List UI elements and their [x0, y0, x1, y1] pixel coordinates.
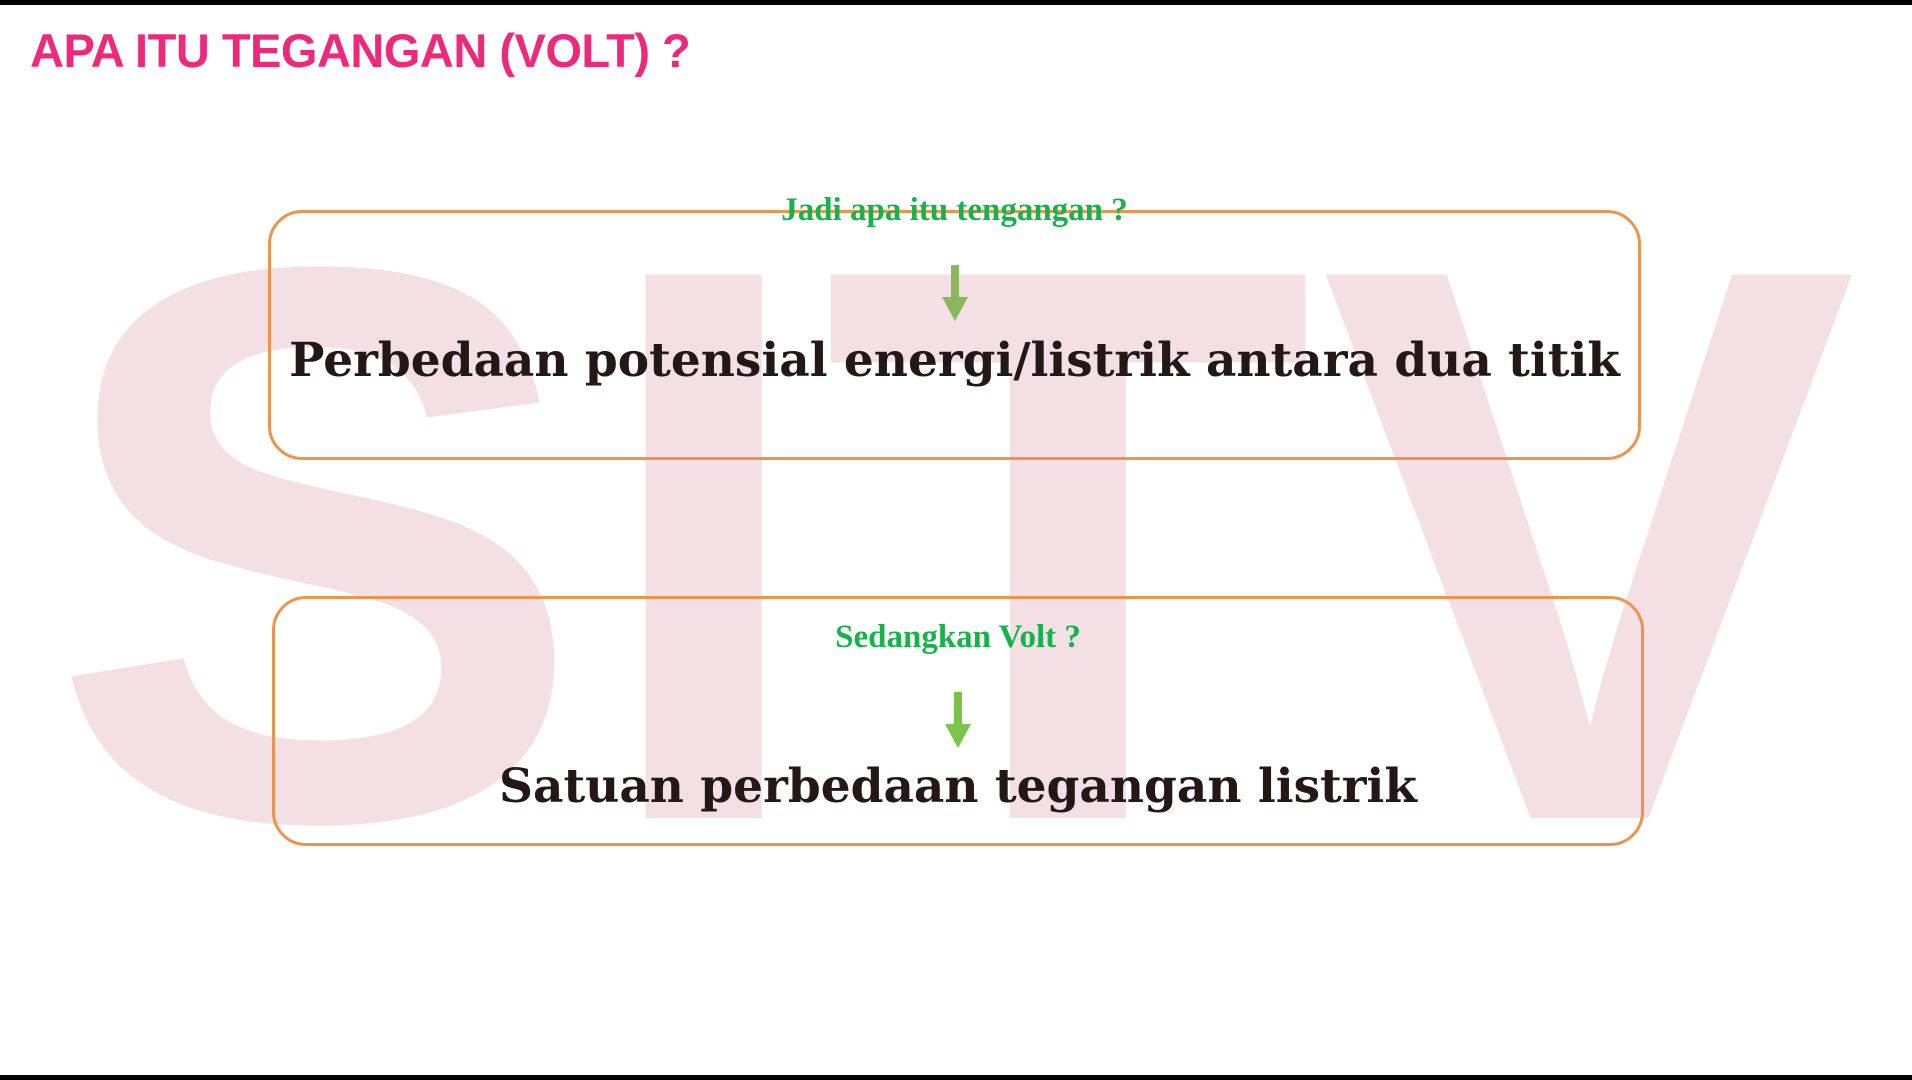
- down-arrow-icon: [938, 265, 972, 321]
- answer-label-volt: Satuan perbedaan tegangan listrik: [275, 759, 1641, 814]
- definition-box-tegangan-content: Jadi apa itu tengangan ? Perbedaan poten…: [271, 213, 1638, 457]
- question-label-volt: Sedangkan Volt ?: [275, 619, 1641, 656]
- slide-canvas: SITV APA ITU TEGANGAN (VOLT) ? Jadi apa …: [0, 0, 1912, 1080]
- definition-box-volt: Sedangkan Volt ? Satuan perbedaan tegang…: [272, 596, 1644, 846]
- answer-label-tegangan: Perbedaan potensial energi/listrik antar…: [271, 333, 1638, 388]
- down-arrow-icon: [941, 692, 975, 748]
- definition-box-tegangan: Jadi apa itu tengangan ? Perbedaan poten…: [268, 210, 1641, 460]
- definition-box-volt-content: Sedangkan Volt ? Satuan perbedaan tegang…: [275, 599, 1641, 843]
- question-label-tegangan: Jadi apa itu tengangan ?: [271, 192, 1638, 229]
- page-title: APA ITU TEGANGAN (VOLT) ?: [30, 23, 690, 78]
